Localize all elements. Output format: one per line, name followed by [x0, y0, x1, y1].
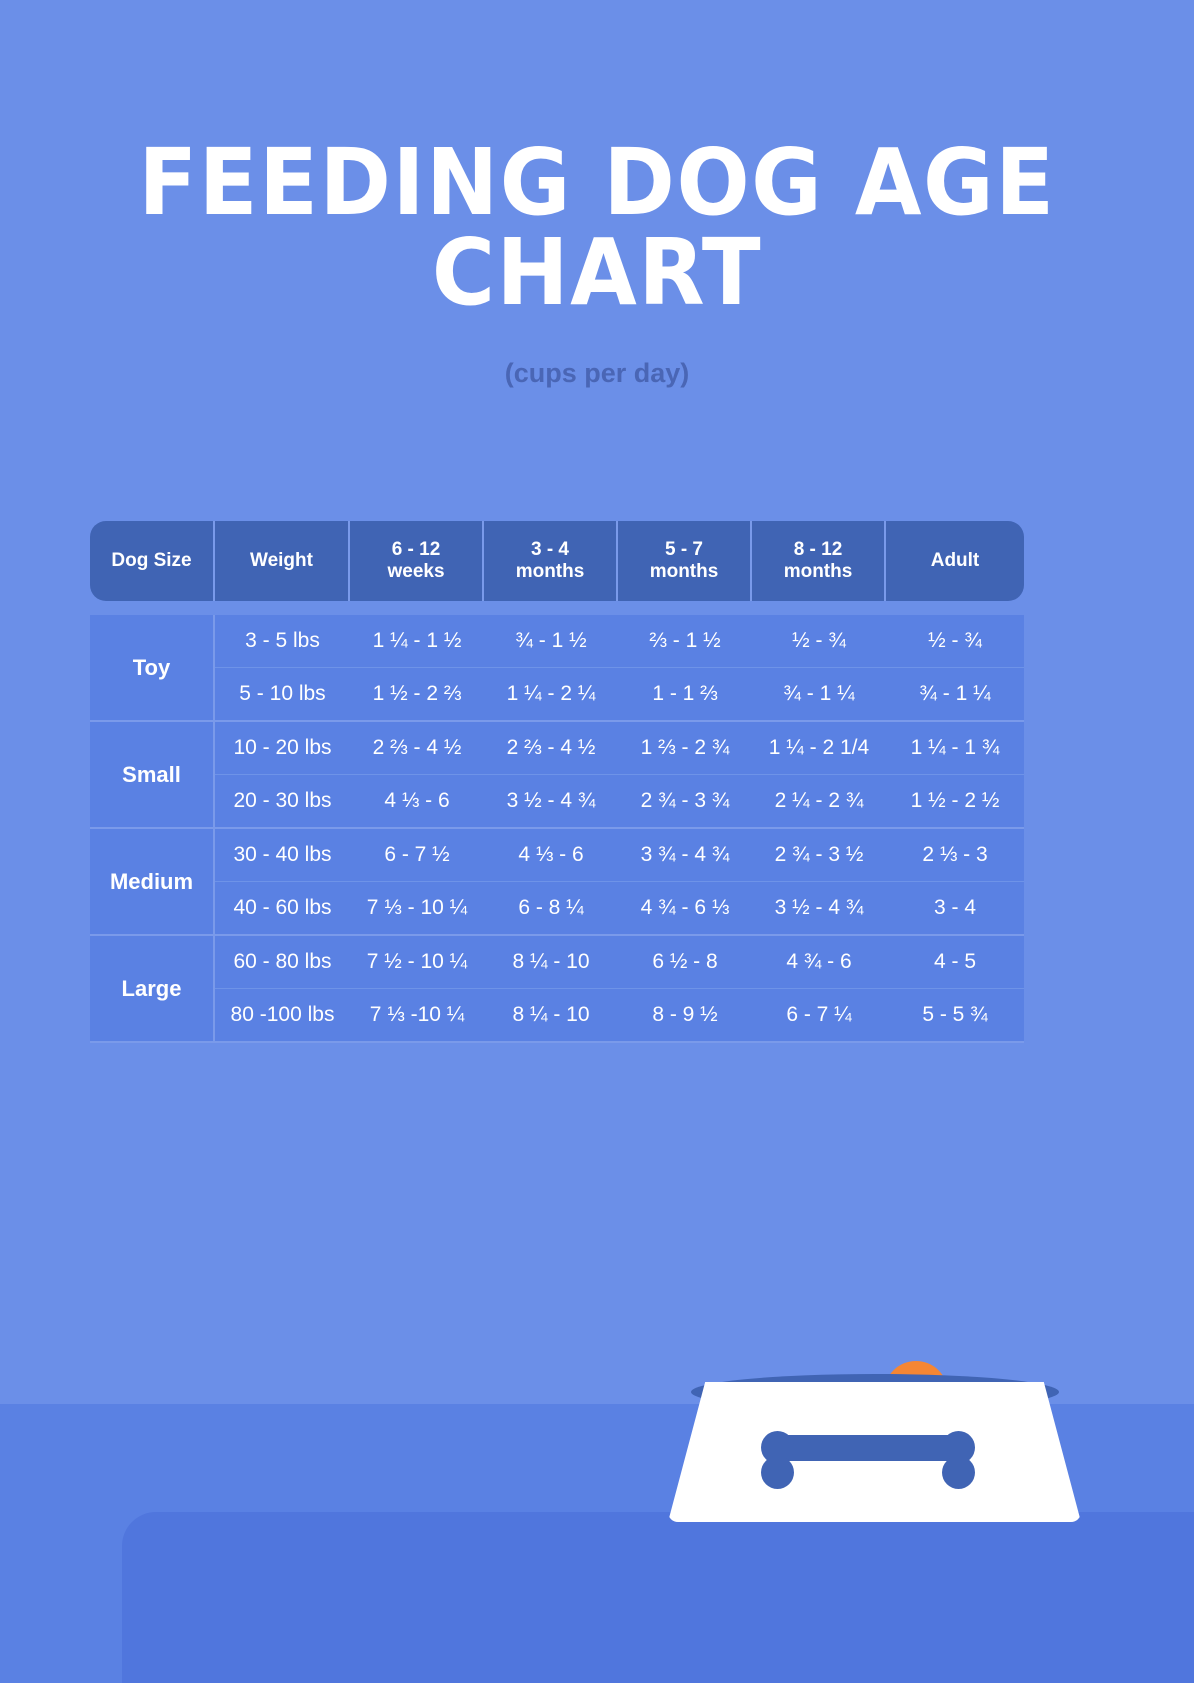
cell-8-12-months: 6 - 7 ¼ [752, 989, 886, 1043]
cell-6-12-weeks: 1 ½ - 2 ⅔ [350, 668, 484, 722]
cell-adult: 1 ½ - 2 ½ [886, 775, 1024, 829]
table-row: 80 -100 lbs 7 ⅓ -10 ¼ 8 ¼ - 10 8 - 9 ½ 6… [90, 989, 1024, 1043]
cell-3-4-months: 6 - 8 ¼ [484, 882, 618, 936]
cell-adult: 2 ⅓ - 3 [886, 829, 1024, 882]
table-body: Toy 3 - 5 lbs 1 ¼ - 1 ½ ¾ - 1 ½ ⅔ - 1 ½ … [90, 601, 1024, 1043]
cell-3-4-months: ¾ - 1 ½ [484, 615, 618, 668]
cell-adult: ½ - ¾ [886, 615, 1024, 668]
cell-8-12-months: ¾ - 1 ¼ [752, 668, 886, 722]
cell-adult: 3 - 4 [886, 882, 1024, 936]
cell-weight: 5 - 10 lbs [215, 668, 350, 722]
table-row: 40 - 60 lbs 7 ⅓ - 10 ¼ 6 - 8 ¼ 4 ¾ - 6 ⅓… [90, 882, 1024, 936]
page-subtitle: (cups per day) [0, 358, 1194, 389]
cell-weight: 80 -100 lbs [215, 989, 350, 1043]
cell-8-12-months: 3 ½ - 4 ¾ [752, 882, 886, 936]
column-header-8-12-months: 8 - 12 months [752, 521, 886, 601]
cell-6-12-weeks: 1 ¼ - 1 ½ [350, 615, 484, 668]
column-header-weight: Weight [215, 521, 350, 601]
column-header-3-4-months: 3 - 4 months [484, 521, 618, 601]
bone-icon [772, 1435, 952, 1461]
cell-3-4-months: 3 ½ - 4 ¾ [484, 775, 618, 829]
cell-6-12-weeks: 6 - 7 ½ [350, 829, 484, 882]
cell-weight: 10 - 20 lbs [215, 722, 350, 775]
cell-adult: 5 - 5 ¾ [886, 989, 1024, 1043]
cell-5-7-months: 4 ¾ - 6 ⅓ [618, 882, 752, 936]
cell-5-7-months: 2 ¾ - 3 ¾ [618, 775, 752, 829]
dog-food-bowl-illustration [660, 1260, 1090, 1560]
cell-weight: 30 - 40 lbs [215, 829, 350, 882]
cell-3-4-months: 8 ¼ - 10 [484, 989, 618, 1043]
cell-adult: 4 - 5 [886, 936, 1024, 989]
table-row: Large 60 - 80 lbs 7 ½ - 10 ¼ 8 ¼ - 10 6 … [90, 936, 1024, 989]
header-body-spacer [90, 601, 1024, 615]
cell-8-12-months: 2 ¾ - 3 ½ [752, 829, 886, 882]
feeding-chart-table: Dog Size Weight 6 - 12 weeks 3 - 4 month… [90, 521, 1024, 1043]
column-header-dog-size: Dog Size [90, 521, 215, 601]
table-header: Dog Size Weight 6 - 12 weeks 3 - 4 month… [90, 521, 1024, 601]
cell-weight: 3 - 5 lbs [215, 615, 350, 668]
bone-knob-icon [942, 1456, 975, 1489]
column-header-6-12-weeks: 6 - 12 weeks [350, 521, 484, 601]
cell-5-7-months: 1 ⅔ - 2 ¾ [618, 722, 752, 775]
cell-5-7-months: ⅔ - 1 ½ [618, 615, 752, 668]
table-row: Toy 3 - 5 lbs 1 ¼ - 1 ½ ¾ - 1 ½ ⅔ - 1 ½ … [90, 615, 1024, 668]
cell-6-12-weeks: 4 ⅓ - 6 [350, 775, 484, 829]
table-row: 20 - 30 lbs 4 ⅓ - 6 3 ½ - 4 ¾ 2 ¾ - 3 ¾ … [90, 775, 1024, 829]
column-header-5-7-months: 5 - 7 months [618, 521, 752, 601]
cell-8-12-months: ½ - ¾ [752, 615, 886, 668]
cell-dog-size-toy: Toy [90, 615, 215, 722]
cell-weight: 20 - 30 lbs [215, 775, 350, 829]
feeding-chart-table-wrapper: Dog Size Weight 6 - 12 weeks 3 - 4 month… [90, 521, 1024, 1043]
cell-dog-size-medium: Medium [90, 829, 215, 936]
cell-8-12-months: 2 ¼ - 2 ¾ [752, 775, 886, 829]
cell-6-12-weeks: 7 ⅓ -10 ¼ [350, 989, 484, 1043]
cell-5-7-months: 3 ¾ - 4 ¾ [618, 829, 752, 882]
table-row: 5 - 10 lbs 1 ½ - 2 ⅔ 1 ¼ - 2 ¼ 1 - 1 ⅔ ¾… [90, 668, 1024, 722]
page-title: FEEDING DOG AGE CHART [87, 138, 1106, 318]
cell-8-12-months: 4 ¾ - 6 [752, 936, 886, 989]
cell-5-7-months: 6 ½ - 8 [618, 936, 752, 989]
table-row: Medium 30 - 40 lbs 6 - 7 ½ 4 ⅓ - 6 3 ¾ -… [90, 829, 1024, 882]
cell-3-4-months: 4 ⅓ - 6 [484, 829, 618, 882]
cell-5-7-months: 1 - 1 ⅔ [618, 668, 752, 722]
cell-weight: 60 - 80 lbs [215, 936, 350, 989]
bone-knob-icon [761, 1456, 794, 1489]
cell-3-4-months: 8 ¼ - 10 [484, 936, 618, 989]
column-header-adult: Adult [886, 521, 1024, 601]
cell-dog-size-small: Small [90, 722, 215, 829]
cell-3-4-months: 1 ¼ - 2 ¼ [484, 668, 618, 722]
cell-dog-size-large: Large [90, 936, 215, 1043]
cell-adult: ¾ - 1 ¼ [886, 668, 1024, 722]
cell-3-4-months: 2 ⅔ - 4 ½ [484, 722, 618, 775]
table-row: Small 10 - 20 lbs 2 ⅔ - 4 ½ 2 ⅔ - 4 ½ 1 … [90, 722, 1024, 775]
cell-weight: 40 - 60 lbs [215, 882, 350, 936]
table-header-row: Dog Size Weight 6 - 12 weeks 3 - 4 month… [90, 521, 1024, 601]
cell-adult: 1 ¼ - 1 ¾ [886, 722, 1024, 775]
cell-6-12-weeks: 7 ½ - 10 ¼ [350, 936, 484, 989]
cell-5-7-months: 8 - 9 ½ [618, 989, 752, 1043]
cell-6-12-weeks: 7 ⅓ - 10 ¼ [350, 882, 484, 936]
title-block: FEEDING DOG AGE CHART (cups per day) [0, 138, 1194, 389]
cell-8-12-months: 1 ¼ - 2 1/4 [752, 722, 886, 775]
cell-6-12-weeks: 2 ⅔ - 4 ½ [350, 722, 484, 775]
